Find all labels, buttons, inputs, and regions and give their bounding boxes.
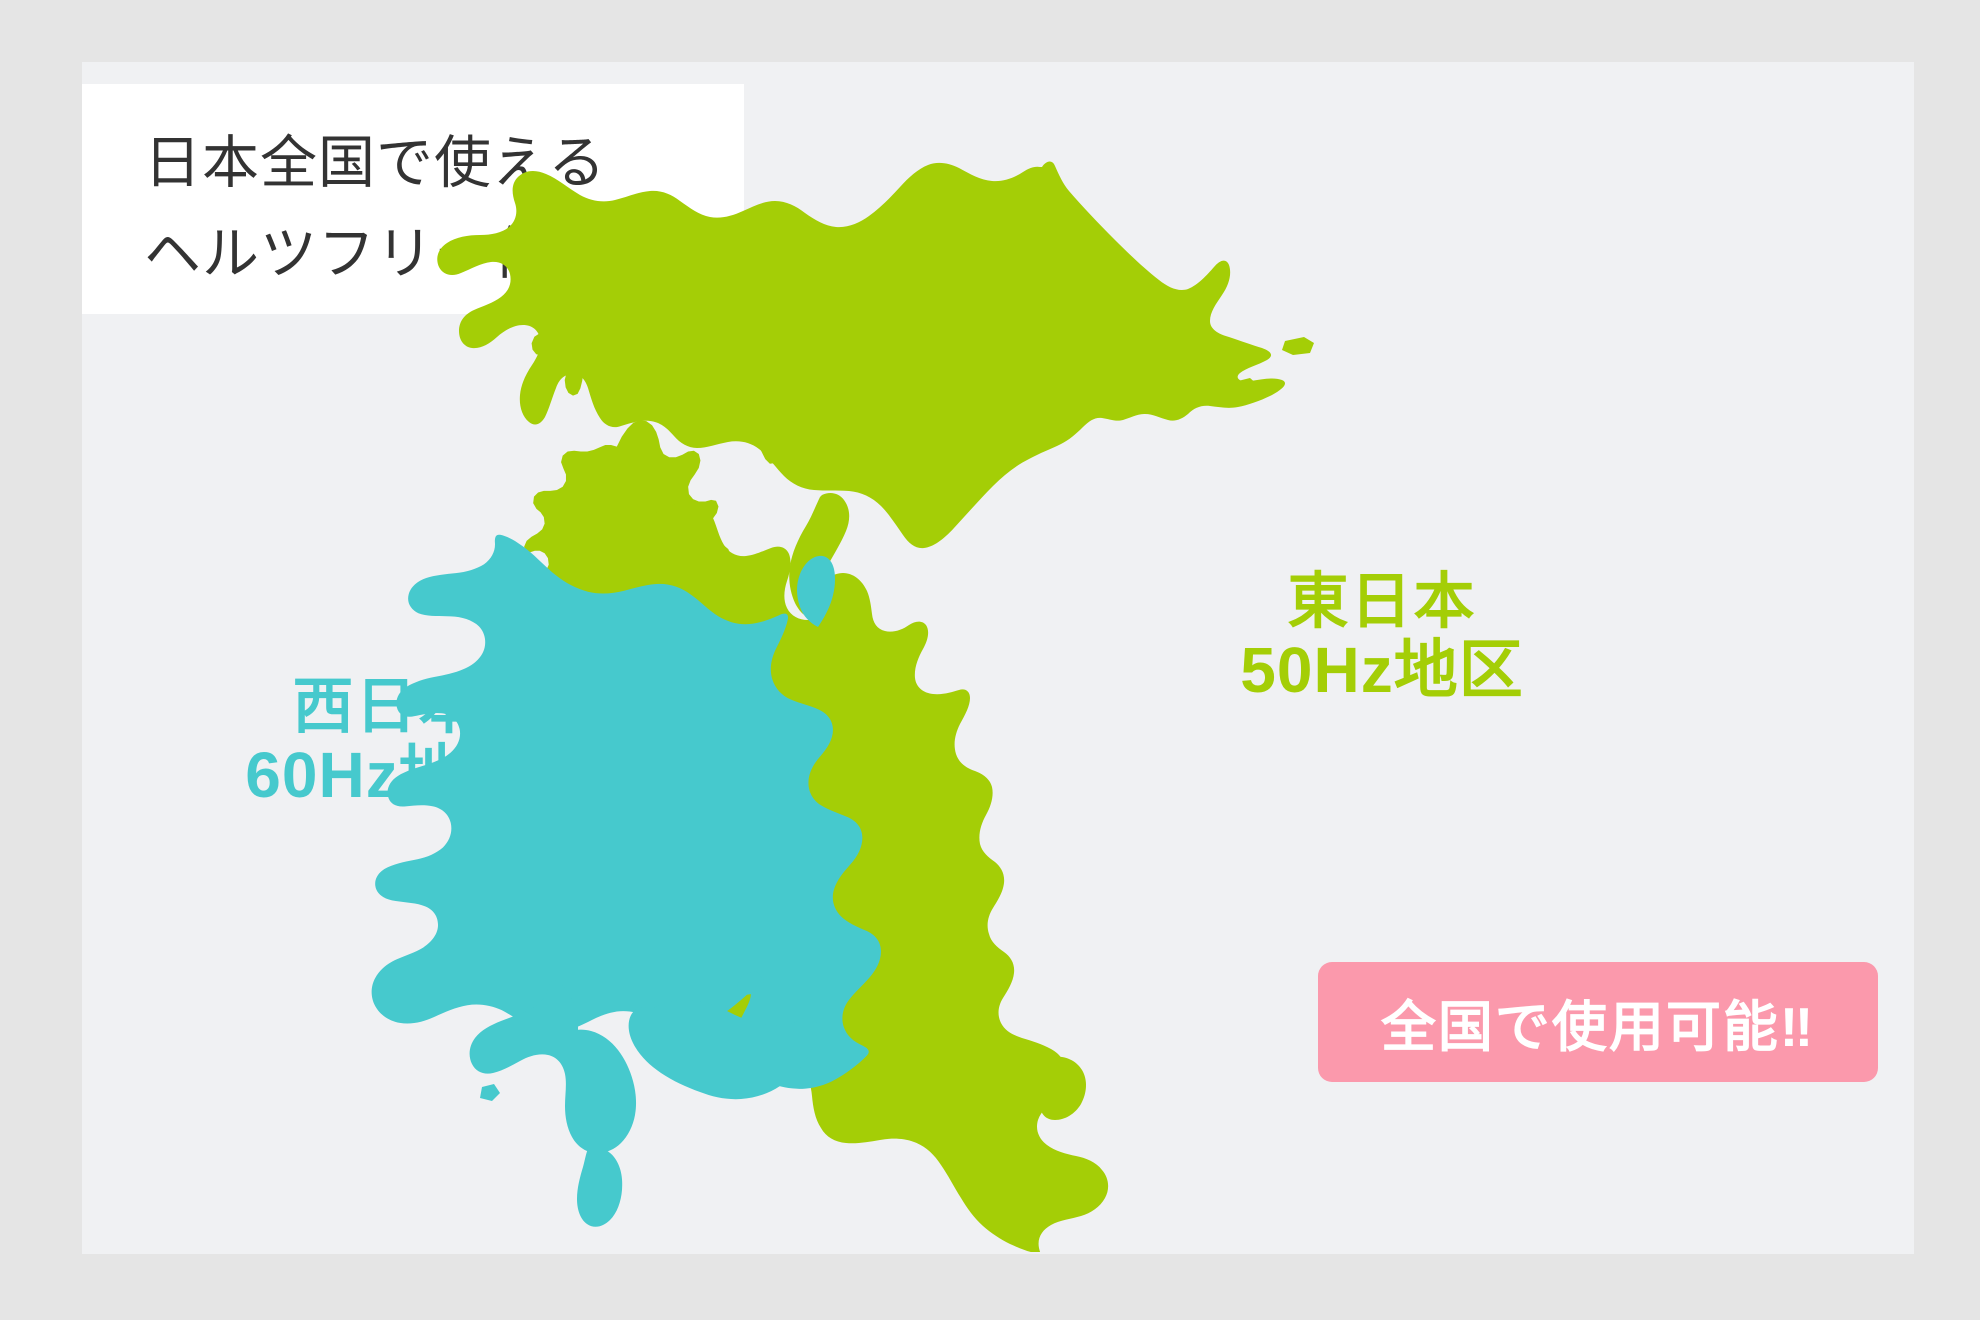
kyushu-south — [577, 1148, 622, 1227]
region-hokkaido — [437, 162, 1314, 618]
nationwide-usable-badge: 全国で使用可能‼ — [1318, 962, 1878, 1082]
hokkaido-east-islets — [1282, 337, 1314, 355]
infographic-card: 日本全国で使える ヘルツフリー仕様 東日本 50Hz地区 西日本 60Hz地区 … — [82, 62, 1914, 1254]
kyushu-goto-islands — [480, 1084, 500, 1101]
badge-label: 全国で使用可能‼ — [1381, 982, 1815, 1062]
hokkaido-main — [437, 162, 1285, 549]
infographic-stage: 日本全国で使える ヘルツフリー仕様 東日本 50Hz地区 西日本 60Hz地区 … — [0, 0, 1980, 1320]
japan-map-regions — [352, 157, 1382, 1252]
west-honshu-main — [372, 535, 881, 1089]
